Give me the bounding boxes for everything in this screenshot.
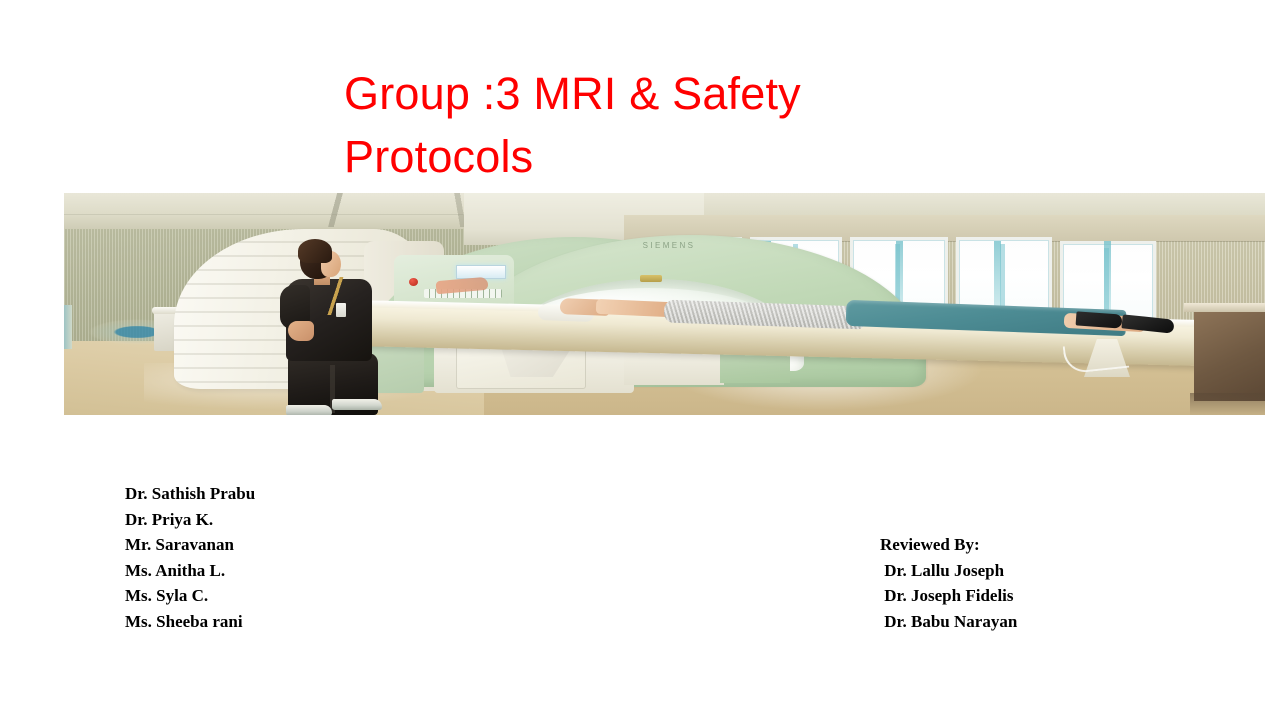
technologist-id-badge <box>336 303 346 317</box>
technologist-forearm <box>288 321 314 341</box>
side-cabinet-shadow <box>1190 393 1265 415</box>
technologist-shoe-left <box>286 405 332 415</box>
page-title-line-1: Group :3 MRI & Safety <box>344 62 964 125</box>
door-edge <box>64 305 72 349</box>
emergency-stop-button-icon <box>409 278 418 286</box>
presentation-slide: Group :3 MRI & Safety Protocols <box>0 0 1280 720</box>
siemens-brand-label: SIEMENS <box>604 241 734 250</box>
technologist-shoe-right <box>332 399 382 410</box>
scanner-bore-badge <box>640 275 662 282</box>
page-title: Group :3 MRI & Safety Protocols <box>344 62 964 188</box>
mri-suite-photo: SIEMENS MAGNETOM ESPREE <box>64 193 1265 415</box>
reviewer-list: Reviewed By: Dr. Lallu Joseph Dr. Joseph… <box>880 532 1017 634</box>
side-cabinet-top <box>1184 303 1265 312</box>
page-title-line-2: Protocols <box>344 125 964 188</box>
side-cabinet <box>1194 309 1265 401</box>
technologist-hair <box>298 239 332 263</box>
author-list: Dr. Sathish Prabu Dr. Priya K. Mr. Sarav… <box>125 481 255 635</box>
